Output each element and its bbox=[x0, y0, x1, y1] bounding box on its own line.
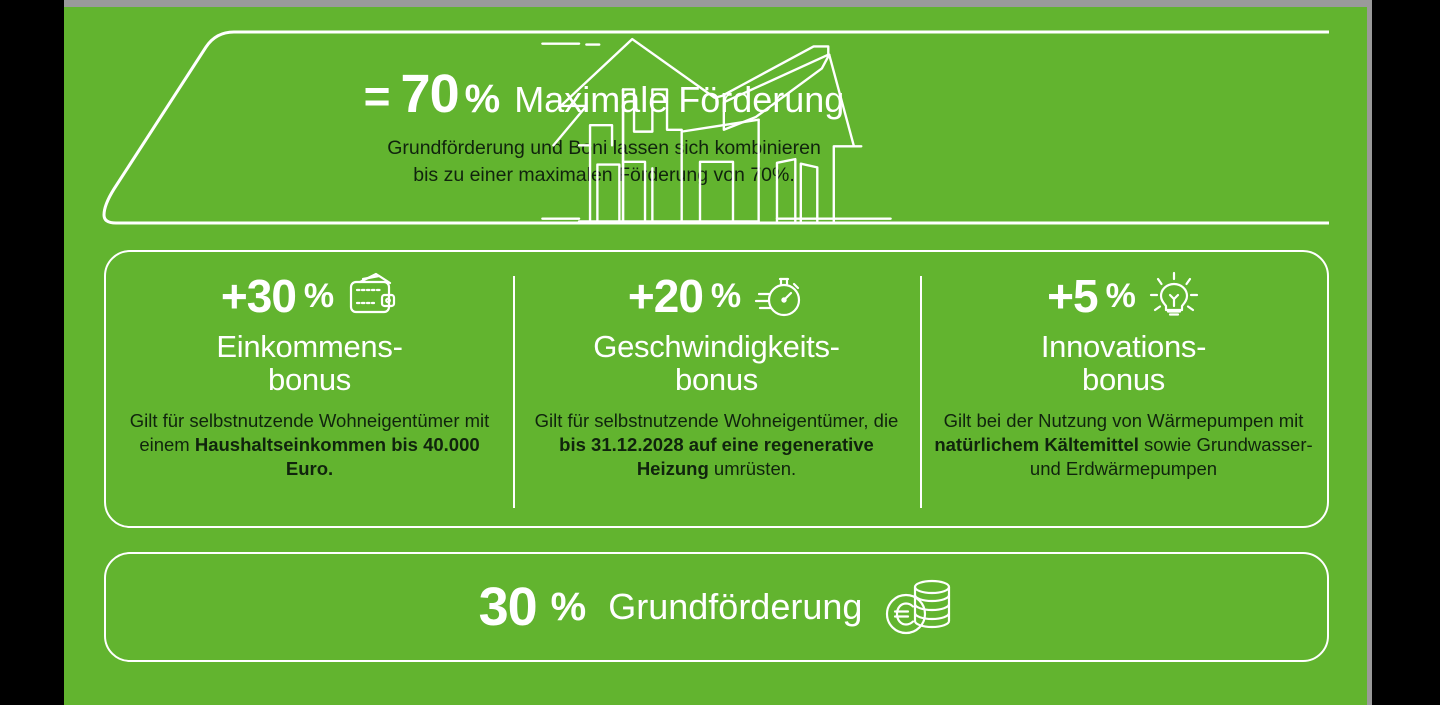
bonus-cards-container: +30 % Ein bbox=[104, 250, 1329, 528]
base-funding-label: Grundförderung bbox=[608, 589, 862, 625]
bonus-title-line-1: Innovations- bbox=[1041, 330, 1206, 363]
wallet-icon bbox=[346, 270, 398, 322]
bonus-headline: +30 % bbox=[221, 270, 398, 322]
bonus-sign-and-value: +5 bbox=[1047, 273, 1097, 319]
green-panel: = 70 % Maximale Förderung Grundförderung… bbox=[64, 7, 1367, 705]
bonus-title-line-2: bonus bbox=[1041, 363, 1206, 396]
lightbulb-icon bbox=[1148, 270, 1200, 322]
stopwatch-icon bbox=[753, 270, 805, 322]
bonus-percent-sign: % bbox=[711, 279, 741, 313]
bonus-title-line-2: bonus bbox=[216, 363, 402, 396]
infographic-canvas: = 70 % Maximale Förderung Grundförderung… bbox=[0, 0, 1440, 705]
bonus-body: Gilt bei der Nutzung von Wärmepumpen mit… bbox=[934, 409, 1313, 481]
right-chrome-strip bbox=[1367, 0, 1372, 705]
bonus-percent-sign: % bbox=[1106, 279, 1136, 313]
bonus-percent-sign: % bbox=[304, 279, 334, 313]
bonus-body: Gilt für selbstnutzende Wohneigentümer m… bbox=[120, 409, 499, 481]
bonus-title-line-1: Einkommens- bbox=[216, 330, 402, 363]
bonus-title: Geschwindigkeits- bonus bbox=[593, 330, 839, 397]
bonus-sign-and-value: +30 bbox=[221, 273, 296, 319]
euro-coins-icon bbox=[884, 575, 954, 639]
base-funding-value: 30 bbox=[479, 580, 537, 634]
hero-card: = 70 % Maximale Förderung Grundförderung… bbox=[104, 29, 1329, 226]
top-chrome-strip bbox=[64, 0, 1368, 7]
house-icon bbox=[104, 29, 1329, 226]
bonus-column-geschwindigkeitsbonus: +20 % bbox=[513, 252, 920, 526]
bonus-title: Einkommens- bonus bbox=[216, 330, 402, 397]
bonus-title: Innovations- bonus bbox=[1041, 330, 1206, 397]
bonus-headline: +5 % bbox=[1047, 270, 1200, 322]
base-funding-percent-sign: % bbox=[551, 587, 587, 627]
bonus-title-line-1: Geschwindigkeits- bbox=[593, 330, 839, 363]
base-funding-card: 30 % Grundförderung bbox=[104, 552, 1329, 662]
bonus-title-line-2: bonus bbox=[593, 363, 839, 396]
bonus-body: Gilt für selbstnutzende Wohneigentümer, … bbox=[527, 409, 906, 481]
bonus-column-innovationsbonus: +5 % bbox=[920, 252, 1327, 526]
bonus-sign-and-value: +20 bbox=[628, 273, 703, 319]
bonus-column-einkommensbonus: +30 % Ein bbox=[106, 252, 513, 526]
bonus-headline: +20 % bbox=[628, 270, 805, 322]
